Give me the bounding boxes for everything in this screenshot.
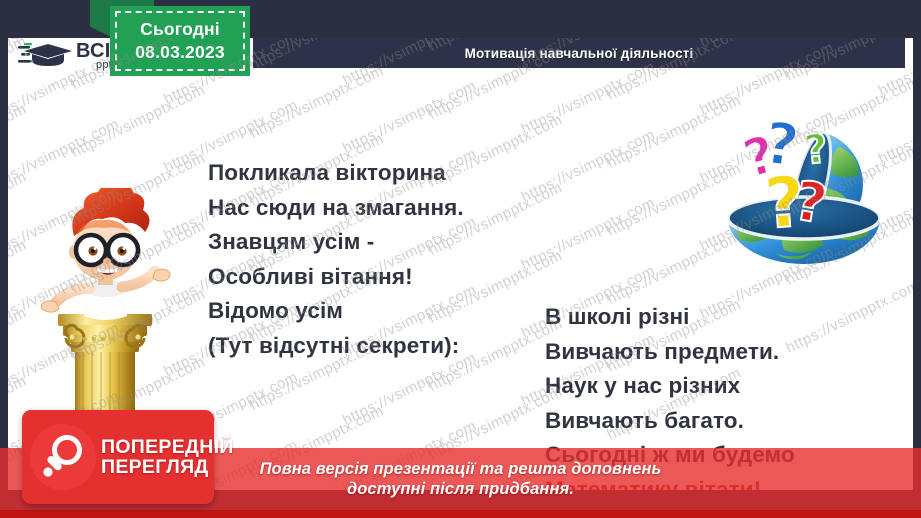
magnifier-icon [30, 424, 96, 490]
slide-viewer: ? ? ? ? ? Покликала вікторина Нас сюди н… [0, 0, 921, 518]
graduation-cap-icon [18, 41, 74, 71]
poem-line: Особливі вітання! [208, 260, 464, 295]
banner-base-strip [0, 510, 921, 518]
poem-line: Вивчають предмети. [545, 335, 795, 370]
poem-left-column: Покликала вікторина Нас сюди на змагання… [208, 156, 464, 363]
slide-title-bar: Мотивація навчальної діяльності [253, 38, 905, 68]
date-badge: Сьогодні 08.03.2023 [110, 6, 250, 76]
banner-line-1: Повна версія презентації та решта доповн… [260, 460, 662, 479]
poem-line: Наук у нас різних [545, 369, 795, 404]
preview-badge-line-2: ПЕРЕГЛЯД [101, 457, 234, 477]
poem-line: Відомо усім [208, 294, 464, 329]
open-globe-with-question-marks-illustration: ? ? ? ? ? [714, 120, 913, 308]
poem-line: Покликала вікторина [208, 156, 464, 191]
poem-line: Вивчають багато. [545, 404, 795, 439]
date-badge-date: 08.03.2023 [135, 42, 225, 63]
svg-text:?: ? [802, 126, 830, 174]
banner-line-2: доступні після придбання. [347, 480, 574, 499]
preview-badge[interactable]: ПОПЕРЕДНІЙ ПЕРЕГЛЯД [22, 410, 214, 504]
page-title: Мотивація навчальної діяльності [465, 46, 694, 61]
poem-line: Знавцям усім - [208, 225, 464, 260]
poem-line: Нас сюди на змагання. [208, 191, 464, 226]
poem-line: (Тут відсутні секрети): [208, 329, 464, 364]
date-badge-label: Сьогодні [140, 19, 220, 40]
preview-badge-line-1: ПОПЕРЕДНІЙ [101, 437, 234, 457]
